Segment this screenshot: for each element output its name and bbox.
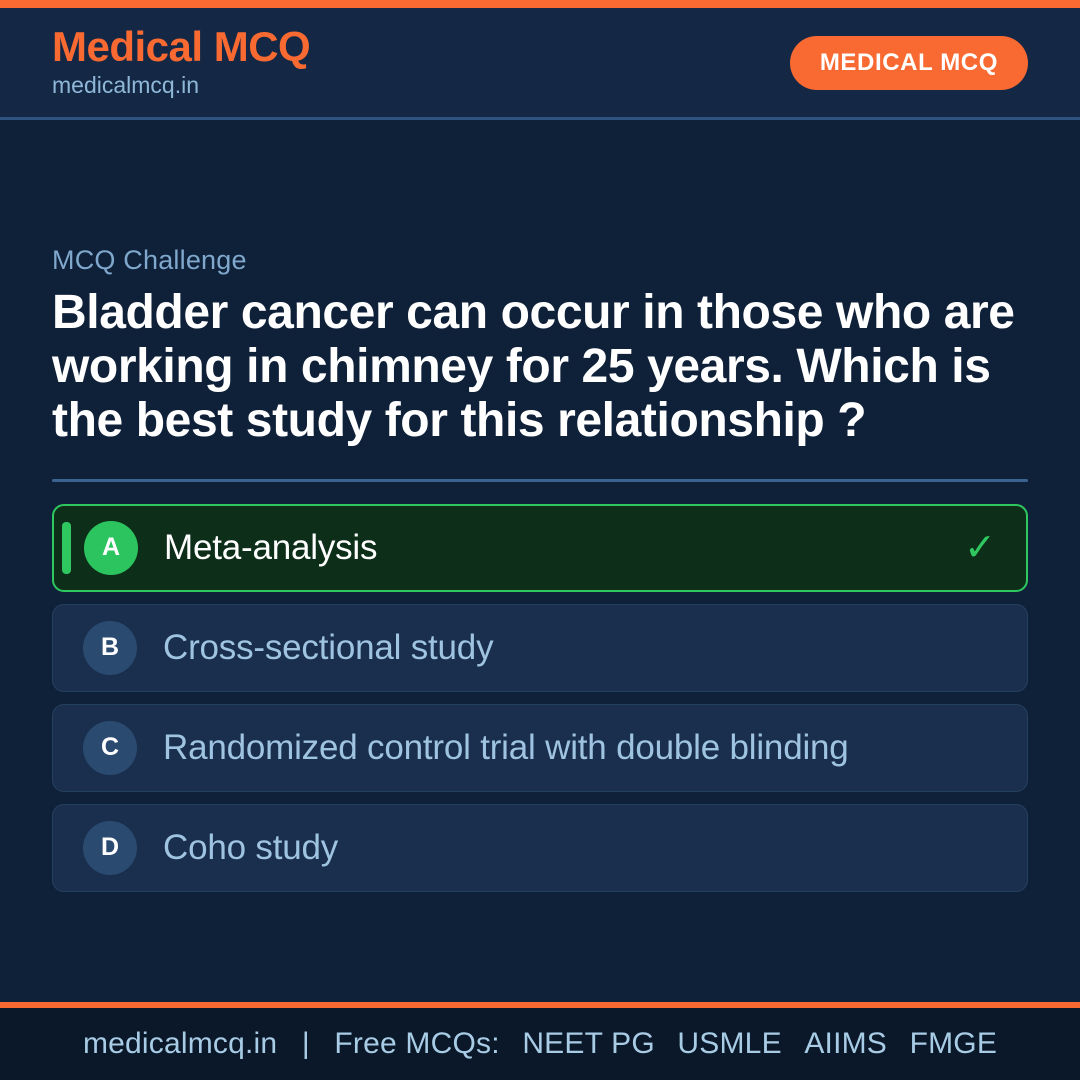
option-text-b: Cross-sectional study (163, 628, 493, 668)
footer-separator: | (286, 1027, 326, 1060)
footer-exam-neetpg: NEET PG (508, 1027, 655, 1060)
brand-title: Medical MCQ (52, 25, 310, 69)
option-letter-c: C (83, 721, 137, 775)
option-row-c[interactable]: C Randomized control trial with double b… (52, 704, 1028, 792)
footer-exam-fmge: FMGE (896, 1027, 997, 1060)
brand-block: Medical MCQ medicalmcq.in (52, 25, 310, 101)
brand-subtitle: medicalmcq.in (52, 71, 310, 101)
options-list: A Meta-analysis ✓ B Cross-sectional stud… (52, 504, 1028, 892)
top-accent-bar (0, 0, 1080, 8)
question-text: Bladder cancer can occur in those who ar… (52, 286, 1028, 449)
option-text-d: Coho study (163, 828, 338, 868)
check-icon: ✓ (964, 529, 996, 567)
option-row-d[interactable]: D Coho study (52, 804, 1028, 892)
footer-text: medicalmcq.in | Free MCQs: NEET PG USMLE… (83, 1027, 997, 1061)
footer-prefix: Free MCQs: (334, 1027, 499, 1060)
option-letter-d: D (83, 821, 137, 875)
option-row-b[interactable]: B Cross-sectional study (52, 604, 1028, 692)
section-divider (52, 479, 1028, 482)
option-letter-a: A (84, 521, 138, 575)
correct-accent-bar (62, 522, 71, 574)
footer-exam-aiims: AIIMS (790, 1027, 887, 1060)
brand-badge: MEDICAL MCQ (790, 36, 1028, 90)
page-header: Medical MCQ medicalmcq.in MEDICAL MCQ (0, 8, 1080, 120)
option-text-c: Randomized control trial with double bli… (163, 728, 849, 768)
main-content: MCQ Challenge Bladder cancer can occur i… (0, 123, 1080, 1000)
option-row-a[interactable]: A Meta-analysis ✓ (52, 504, 1028, 592)
mcq-challenge-label: MCQ Challenge (52, 245, 1028, 276)
option-letter-b: B (83, 621, 137, 675)
footer-exam-usmle: USMLE (663, 1027, 781, 1060)
page-footer: medicalmcq.in | Free MCQs: NEET PG USMLE… (0, 1008, 1080, 1080)
footer-site: medicalmcq.in (83, 1027, 277, 1060)
option-text-a: Meta-analysis (164, 528, 377, 568)
